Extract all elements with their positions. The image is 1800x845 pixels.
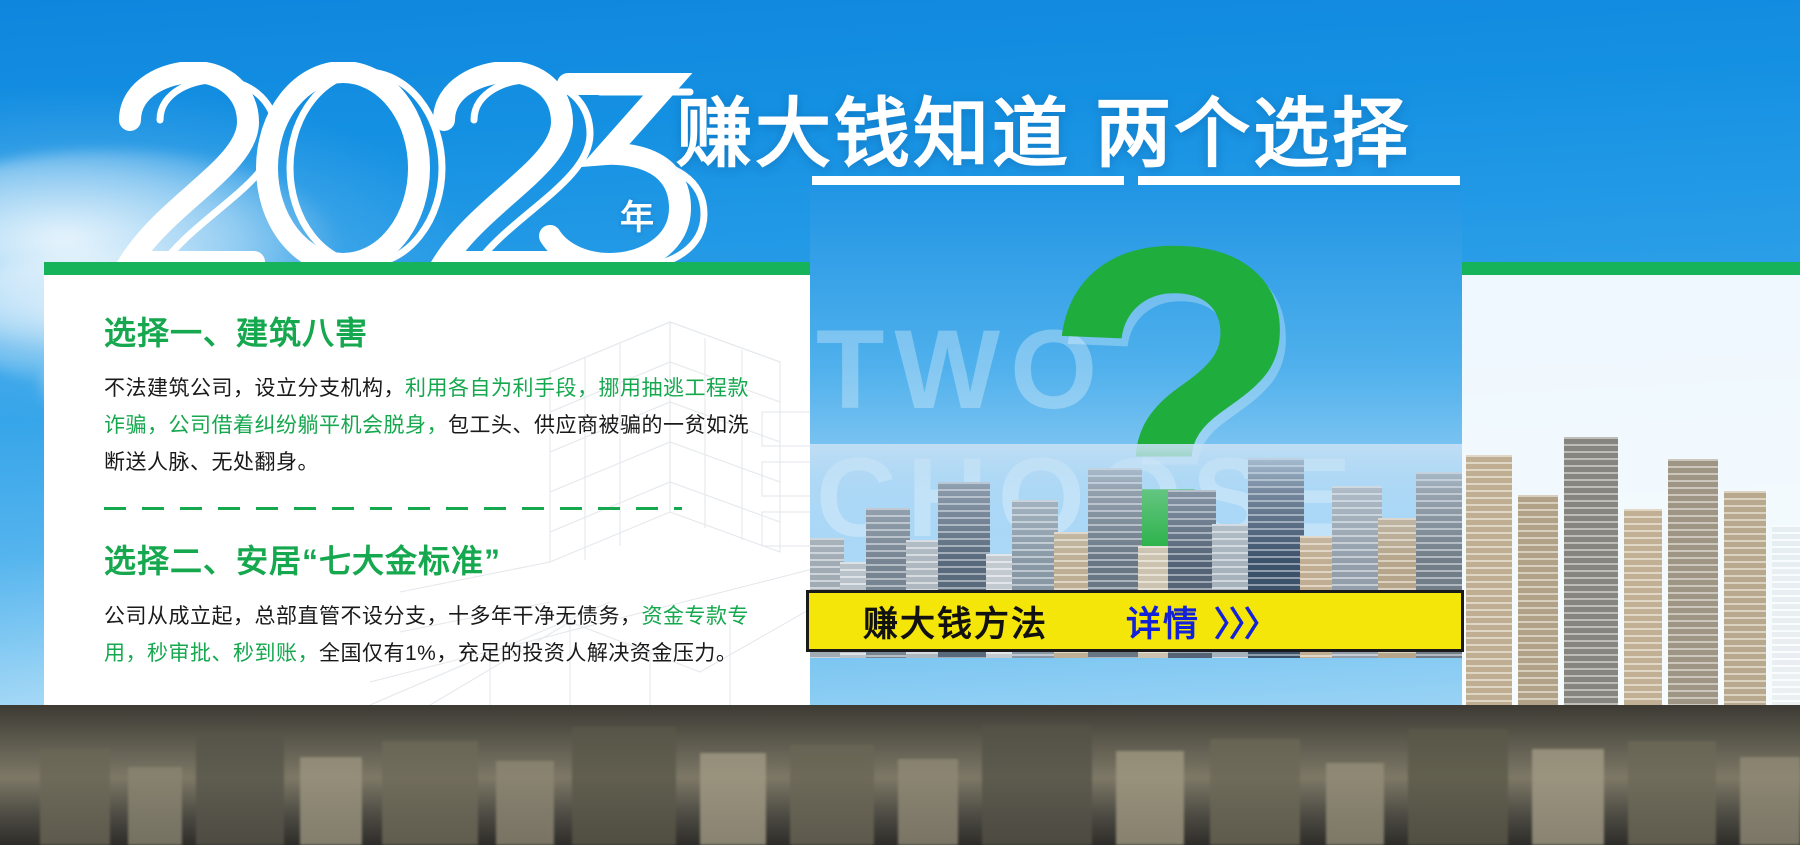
promo-banner: 年 赚大钱知道 两个选择 — [0, 0, 1800, 845]
section-body: 不法建筑公司，设立分支机构，利用各自为利手段，挪用抽逃工程款 诈骗，公司借着纠纷… — [104, 370, 776, 481]
body-span: 公司从成立起，总部直管不设分支，十多年干净无债务， — [104, 605, 642, 628]
body-line: 不法建筑公司，设立分支机构，利用各自为利手段，挪用抽逃工程款 — [104, 370, 776, 407]
cta-label: 赚大钱方法 — [863, 596, 1048, 647]
bottom-waterfront-strip — [0, 705, 1800, 845]
right-visual-panel: TWO CHOOSE ? — [810, 186, 1462, 658]
content-card: 选择一、建筑八害 不法建筑公司，设立分支机构，利用各自为利手段，挪用抽逃工程款 … — [44, 262, 810, 705]
body-line: 用，秒审批、秒到账，全国仅有1%，充足的投资人解决资金压力。 — [104, 635, 776, 672]
right-green-accent-bar — [1462, 262, 1800, 275]
section-choice-one: 选择一、建筑八害 不法建筑公司，设立分支机构，利用各自为利手段，挪用抽逃工程款 … — [104, 308, 782, 481]
body-line: 公司从成立起，总部直管不设分支，十多年干净无债务，资金专款专 — [104, 598, 776, 635]
body-span: 全国仅有1%，充足的投资人解决资金压力。 — [319, 642, 737, 665]
body-line: 诈骗，公司借着纠纷躺平机会脱身，包工头、供应商被骗的一贫如洗 — [104, 407, 776, 444]
year-numerals — [108, 62, 708, 272]
section-body: 公司从成立起，总部直管不设分支，十多年干净无债务，资金专款专 用，秒审批、秒到账… — [104, 598, 776, 672]
underline-segment-right — [1138, 176, 1460, 185]
headline-underline — [812, 176, 1460, 186]
body-span-green: 诈骗，公司借着纠纷躺平机会脱身， — [104, 414, 448, 437]
cta-link-label: 详情 — [1126, 596, 1200, 647]
page-title: 赚大钱知道 两个选择 — [676, 72, 1411, 182]
body-span: 包工头、供应商被骗的一贫如洗 — [448, 414, 749, 437]
section-title: 选择一、建筑八害 — [104, 308, 782, 354]
body-span-green: 资金专款专 — [642, 605, 750, 628]
cta-link[interactable]: 详情 〉〉〉 — [1126, 596, 1276, 647]
underline-segment-left — [812, 176, 1124, 185]
right-city-photo — [1462, 420, 1800, 705]
chevron-right-icon: 〉〉〉 — [1214, 597, 1276, 646]
year-suffix-label: 年 — [620, 190, 655, 239]
section-choice-two: 选择二、安居“七大金标准” 公司从成立起，总部直管不设分支，十多年干净无债务，资… — [104, 536, 782, 672]
section-divider — [104, 507, 682, 510]
cta-bar[interactable]: 赚大钱方法 详情 〉〉〉 — [806, 590, 1464, 652]
card-top-green-bar — [44, 262, 810, 275]
body-span-green: 用，秒审批、秒到账， — [104, 642, 319, 665]
section-title: 选择二、安居“七大金标准” — [104, 536, 782, 582]
body-span: 断送人脉、无处翻身。 — [104, 451, 319, 474]
body-span-green: 利用各自为利手段，挪用抽逃工程款 — [405, 377, 749, 400]
card-content: 选择一、建筑八害 不法建筑公司，设立分支机构，利用各自为利手段，挪用抽逃工程款 … — [104, 308, 782, 672]
body-span: 不法建筑公司，设立分支机构， — [104, 377, 405, 400]
body-line: 断送人脉、无处翻身。 — [104, 444, 776, 481]
